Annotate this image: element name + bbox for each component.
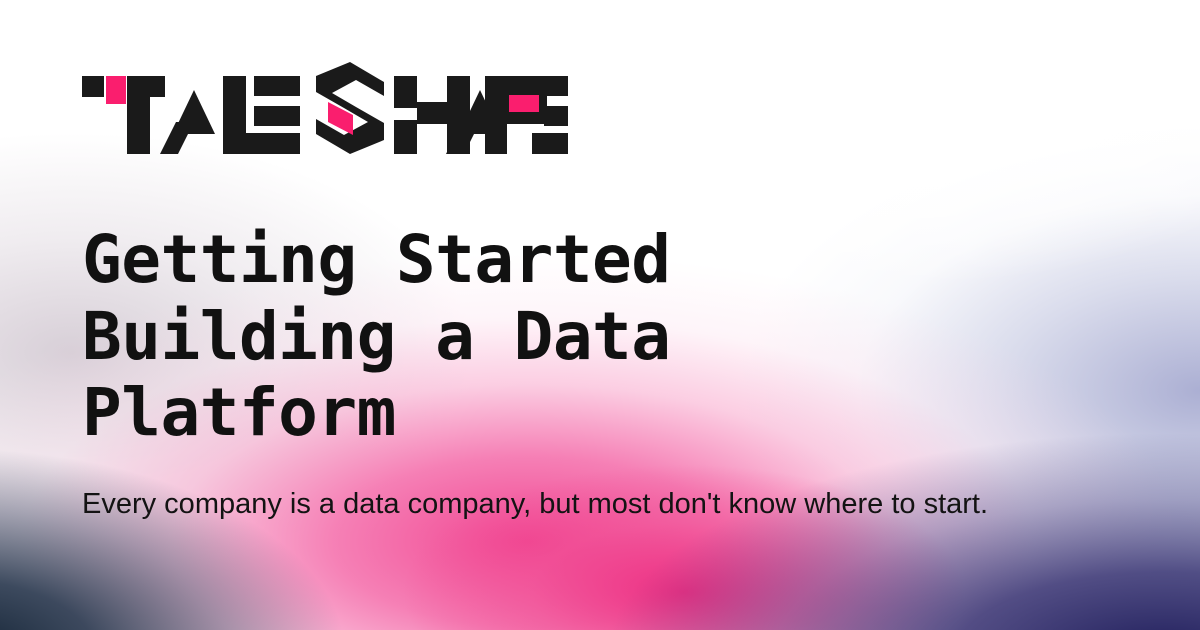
card-content: Getting Started Building a Data Platform…: [0, 0, 1200, 630]
logo-letter-S: [316, 62, 384, 154]
logo-letter-A: [160, 90, 215, 154]
page-subtitle: Every company is a data company, but mos…: [82, 484, 1082, 525]
headline-line-3: Platform: [82, 374, 396, 451]
og-share-card: Getting Started Building a Data Platform…: [0, 0, 1200, 630]
logo-accent-block-p: [509, 95, 539, 112]
headline-line-1: Getting Started: [82, 221, 671, 298]
headline-line-2: Building a Data: [82, 298, 671, 375]
logo-accent-block-t: [106, 76, 126, 104]
page-title: Getting Started Building a Data Platform: [82, 222, 671, 452]
taleshape-logo[interactable]: [82, 62, 568, 154]
logo-letter-E1: [242, 76, 300, 154]
